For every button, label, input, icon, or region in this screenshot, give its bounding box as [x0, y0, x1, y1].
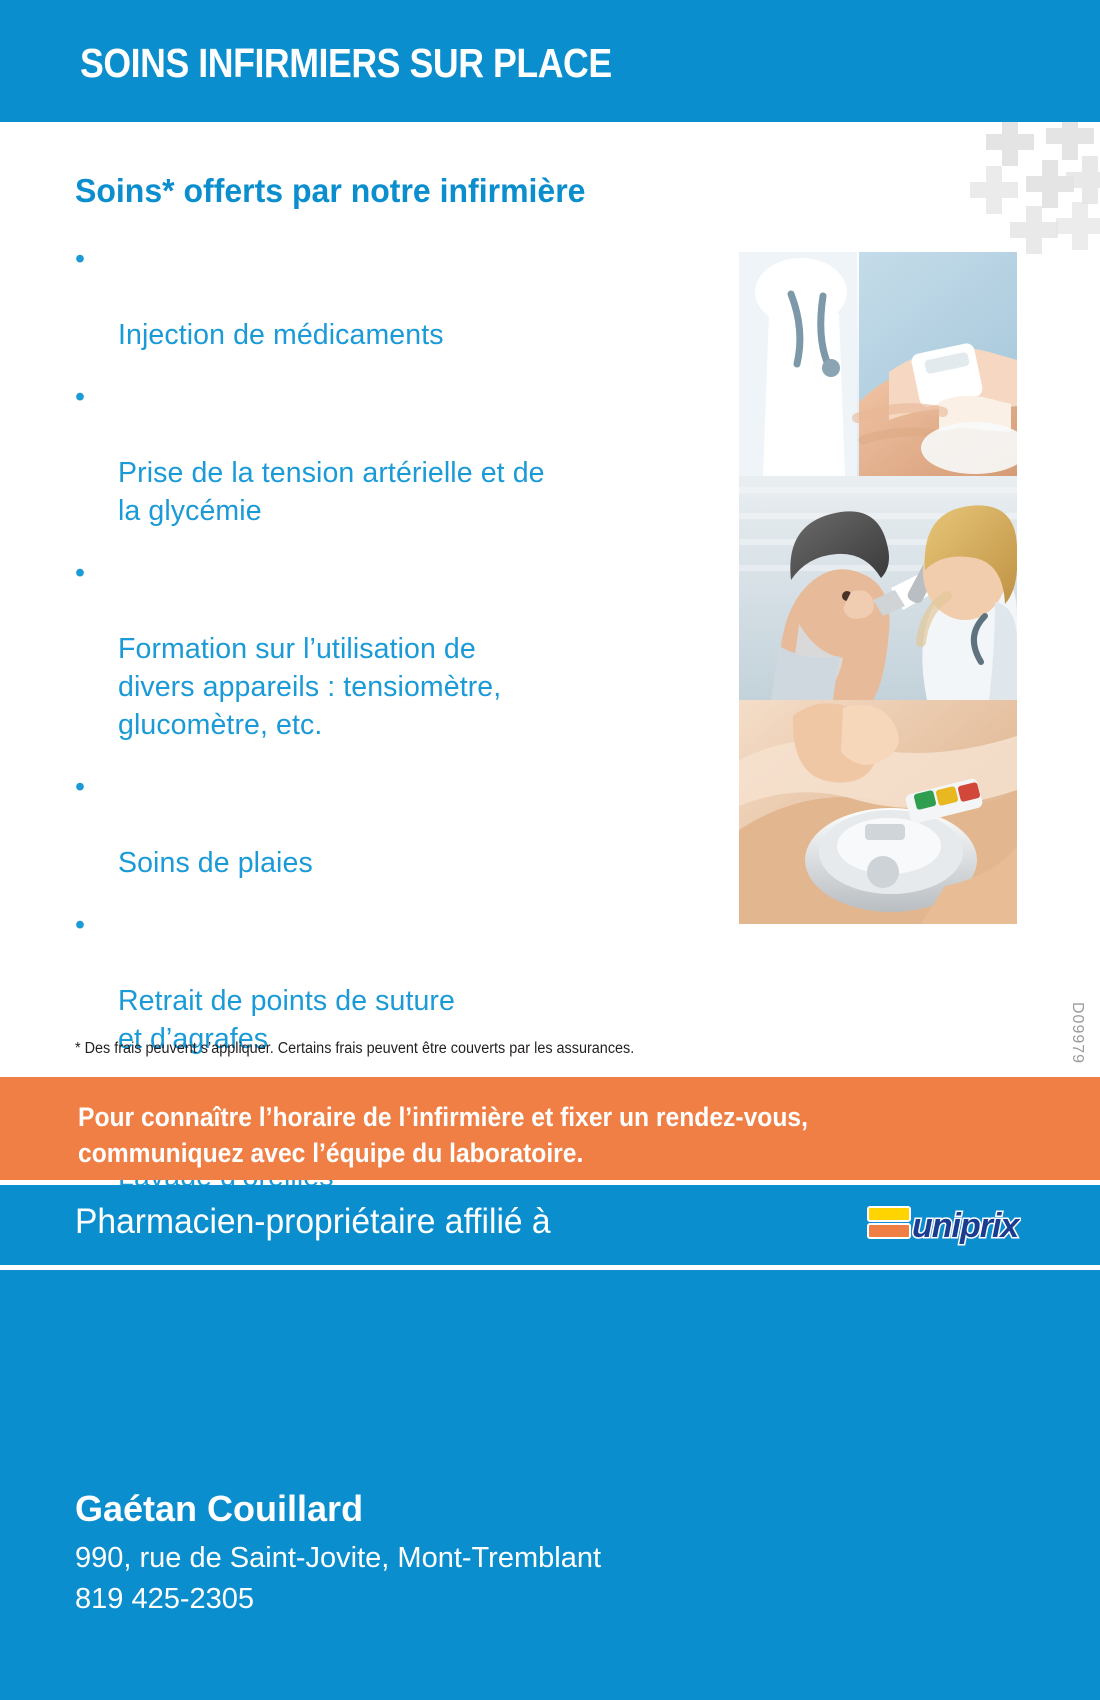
- list-item: • Formation sur l’utilisation de divers …: [75, 554, 695, 744]
- list-item: • Injection de médicaments: [75, 240, 695, 354]
- cta-text: Pour connaître l’horaire de l’infirmière…: [78, 1099, 989, 1171]
- cta-band: Pour connaître l’horaire de l’infirmière…: [0, 1077, 1100, 1180]
- photo-blood-pressure-monitor: [739, 700, 1017, 924]
- section-heading: Soins* offerts par notre infirmière: [75, 172, 585, 210]
- pharmacist-name: Gaétan Couillard: [75, 1488, 363, 1530]
- footer-band: Gaétan Couillard 990, rue de Saint-Jovit…: [0, 1270, 1100, 1700]
- list-item: • Soins de plaies: [75, 768, 695, 882]
- affiliation-text: Pharmacien-propriétaire affilié à: [75, 1202, 551, 1242]
- main-content: Soins* offerts par notre infirmière • In…: [0, 122, 1100, 1077]
- uniprix-logo: uniprix: [866, 1199, 1021, 1249]
- list-item: • Retrait de points de suture et d’agraf…: [75, 906, 695, 1058]
- photo-column: [739, 252, 1017, 924]
- pharmacy-address: 990, rue de Saint-Jovite, Mont-Tremblant…: [75, 1538, 601, 1620]
- list-item-label: Injection de médicaments: [118, 319, 444, 351]
- poster-page: SOINS INFIRMIERS SUR PLACE Soins* offert…: [0, 0, 1100, 1700]
- list-item-label: Prise de la tension artérielle et de la …: [118, 457, 545, 527]
- list-item: • Prise de la tension artérielle et de l…: [75, 378, 695, 530]
- bullet-dot-icon: •: [75, 240, 85, 278]
- medical-cross-pattern-icon: [850, 122, 1100, 262]
- header-band: SOINS INFIRMIERS SUR PLACE: [0, 0, 1100, 122]
- services-list: • Injection de médicaments • Prise de la…: [75, 240, 695, 1220]
- list-item-label: Soins de plaies: [118, 847, 313, 879]
- bullet-dot-icon: •: [75, 906, 85, 944]
- photo-nurse-examining-patient-ear: [739, 476, 1017, 700]
- document-code: D09979: [1068, 1002, 1086, 1064]
- bullet-dot-icon: •: [75, 378, 85, 416]
- bullet-dot-icon: •: [75, 554, 85, 592]
- footnote-text: * Des frais peuvent s’appliquer. Certain…: [75, 1040, 634, 1058]
- photo-nurse-bandaging-patient-arm: [739, 252, 1017, 476]
- list-item-label: Formation sur l’utilisation de divers ap…: [118, 633, 501, 741]
- svg-text:uniprix: uniprix: [912, 1207, 1021, 1245]
- page-title: SOINS INFIRMIERS SUR PLACE: [80, 40, 612, 87]
- bullet-dot-icon: •: [75, 768, 85, 806]
